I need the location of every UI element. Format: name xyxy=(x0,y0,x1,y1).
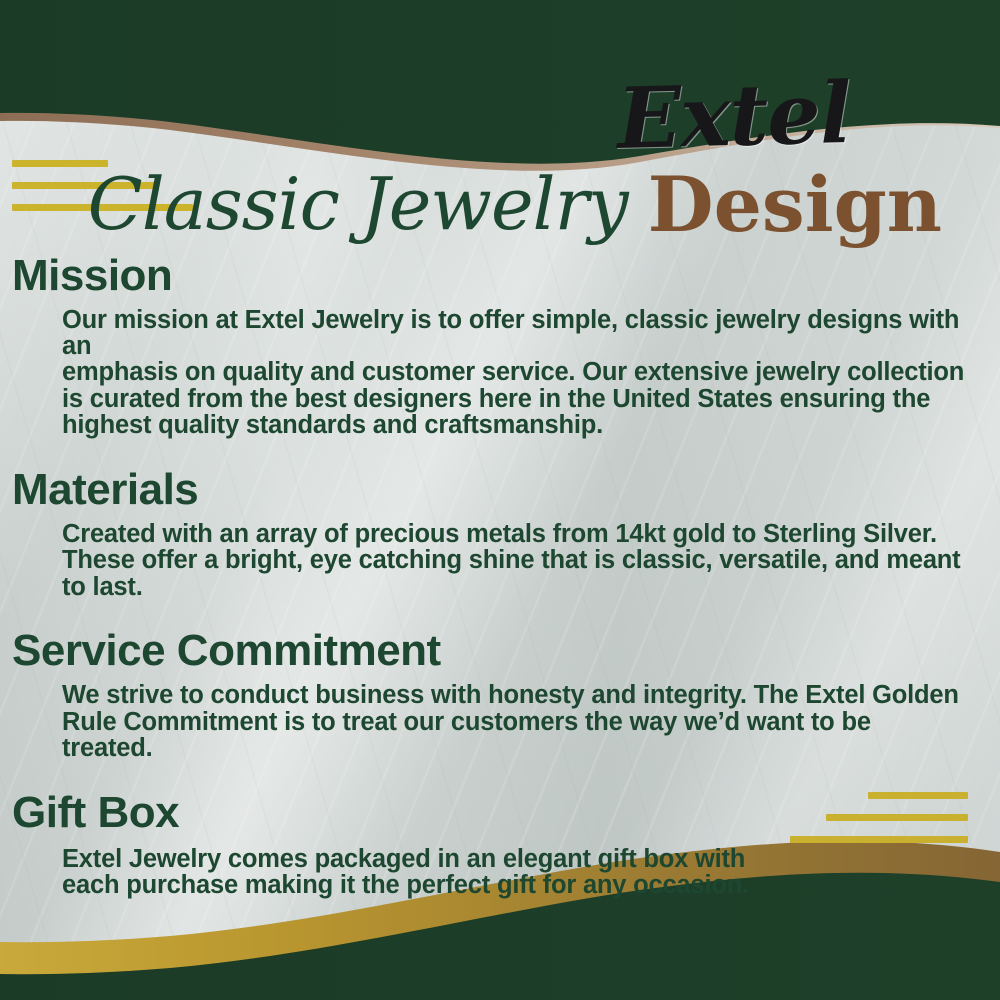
section-service-commitment: Service Commitment We strive to conduct … xyxy=(0,623,1000,763)
section-materials: Materials Created with an array of preci… xyxy=(0,462,1000,602)
body-line: These offer a bright, eye catching shine… xyxy=(62,548,968,575)
section-body-mission: Our mission at Extel Jewelry is to offer… xyxy=(62,308,976,440)
body-line: each purchase making it the perfect gift… xyxy=(62,873,970,900)
body-line: is curated from the best designers here … xyxy=(62,387,976,414)
body-line: Rule Commitment is to treat our customer… xyxy=(62,710,960,737)
page-title-secondary: Design xyxy=(648,160,942,249)
body-line: Our mission at Extel Jewelry is to offer… xyxy=(62,308,976,360)
body-line: treated. xyxy=(62,736,960,763)
decorative-lines-bottom-right xyxy=(790,792,968,858)
body-line: to last. xyxy=(62,575,968,602)
section-heading-materials: Materials xyxy=(12,462,1000,518)
section-body-service: We strive to conduct business with hones… xyxy=(62,683,960,763)
section-mission: Mission Our mission at Extel Jewelry is … xyxy=(0,248,1000,440)
decorative-line xyxy=(826,814,968,821)
body-line: Created with an array of precious metals… xyxy=(62,522,968,549)
section-heading-service: Service Commitment xyxy=(12,623,1000,679)
decorative-line xyxy=(868,792,968,799)
page-title: Classic Jewelry Design xyxy=(0,156,1000,252)
section-body-materials: Created with an array of precious metals… xyxy=(62,522,968,602)
poster-canvas: Extel Classic Jewelry Design Mission Our… xyxy=(0,0,1000,1000)
brand-logo-text: Extel xyxy=(616,63,852,168)
body-line: highest quality standards and craftsmans… xyxy=(62,413,976,440)
body-line: We strive to conduct business with hones… xyxy=(62,683,960,710)
section-heading-mission: Mission xyxy=(12,248,1000,304)
decorative-line xyxy=(790,836,968,843)
page-title-primary: Classic Jewelry xyxy=(88,162,628,246)
body-line: emphasis on quality and customer service… xyxy=(62,360,976,387)
brand-logo-extel: Extel xyxy=(603,63,866,170)
